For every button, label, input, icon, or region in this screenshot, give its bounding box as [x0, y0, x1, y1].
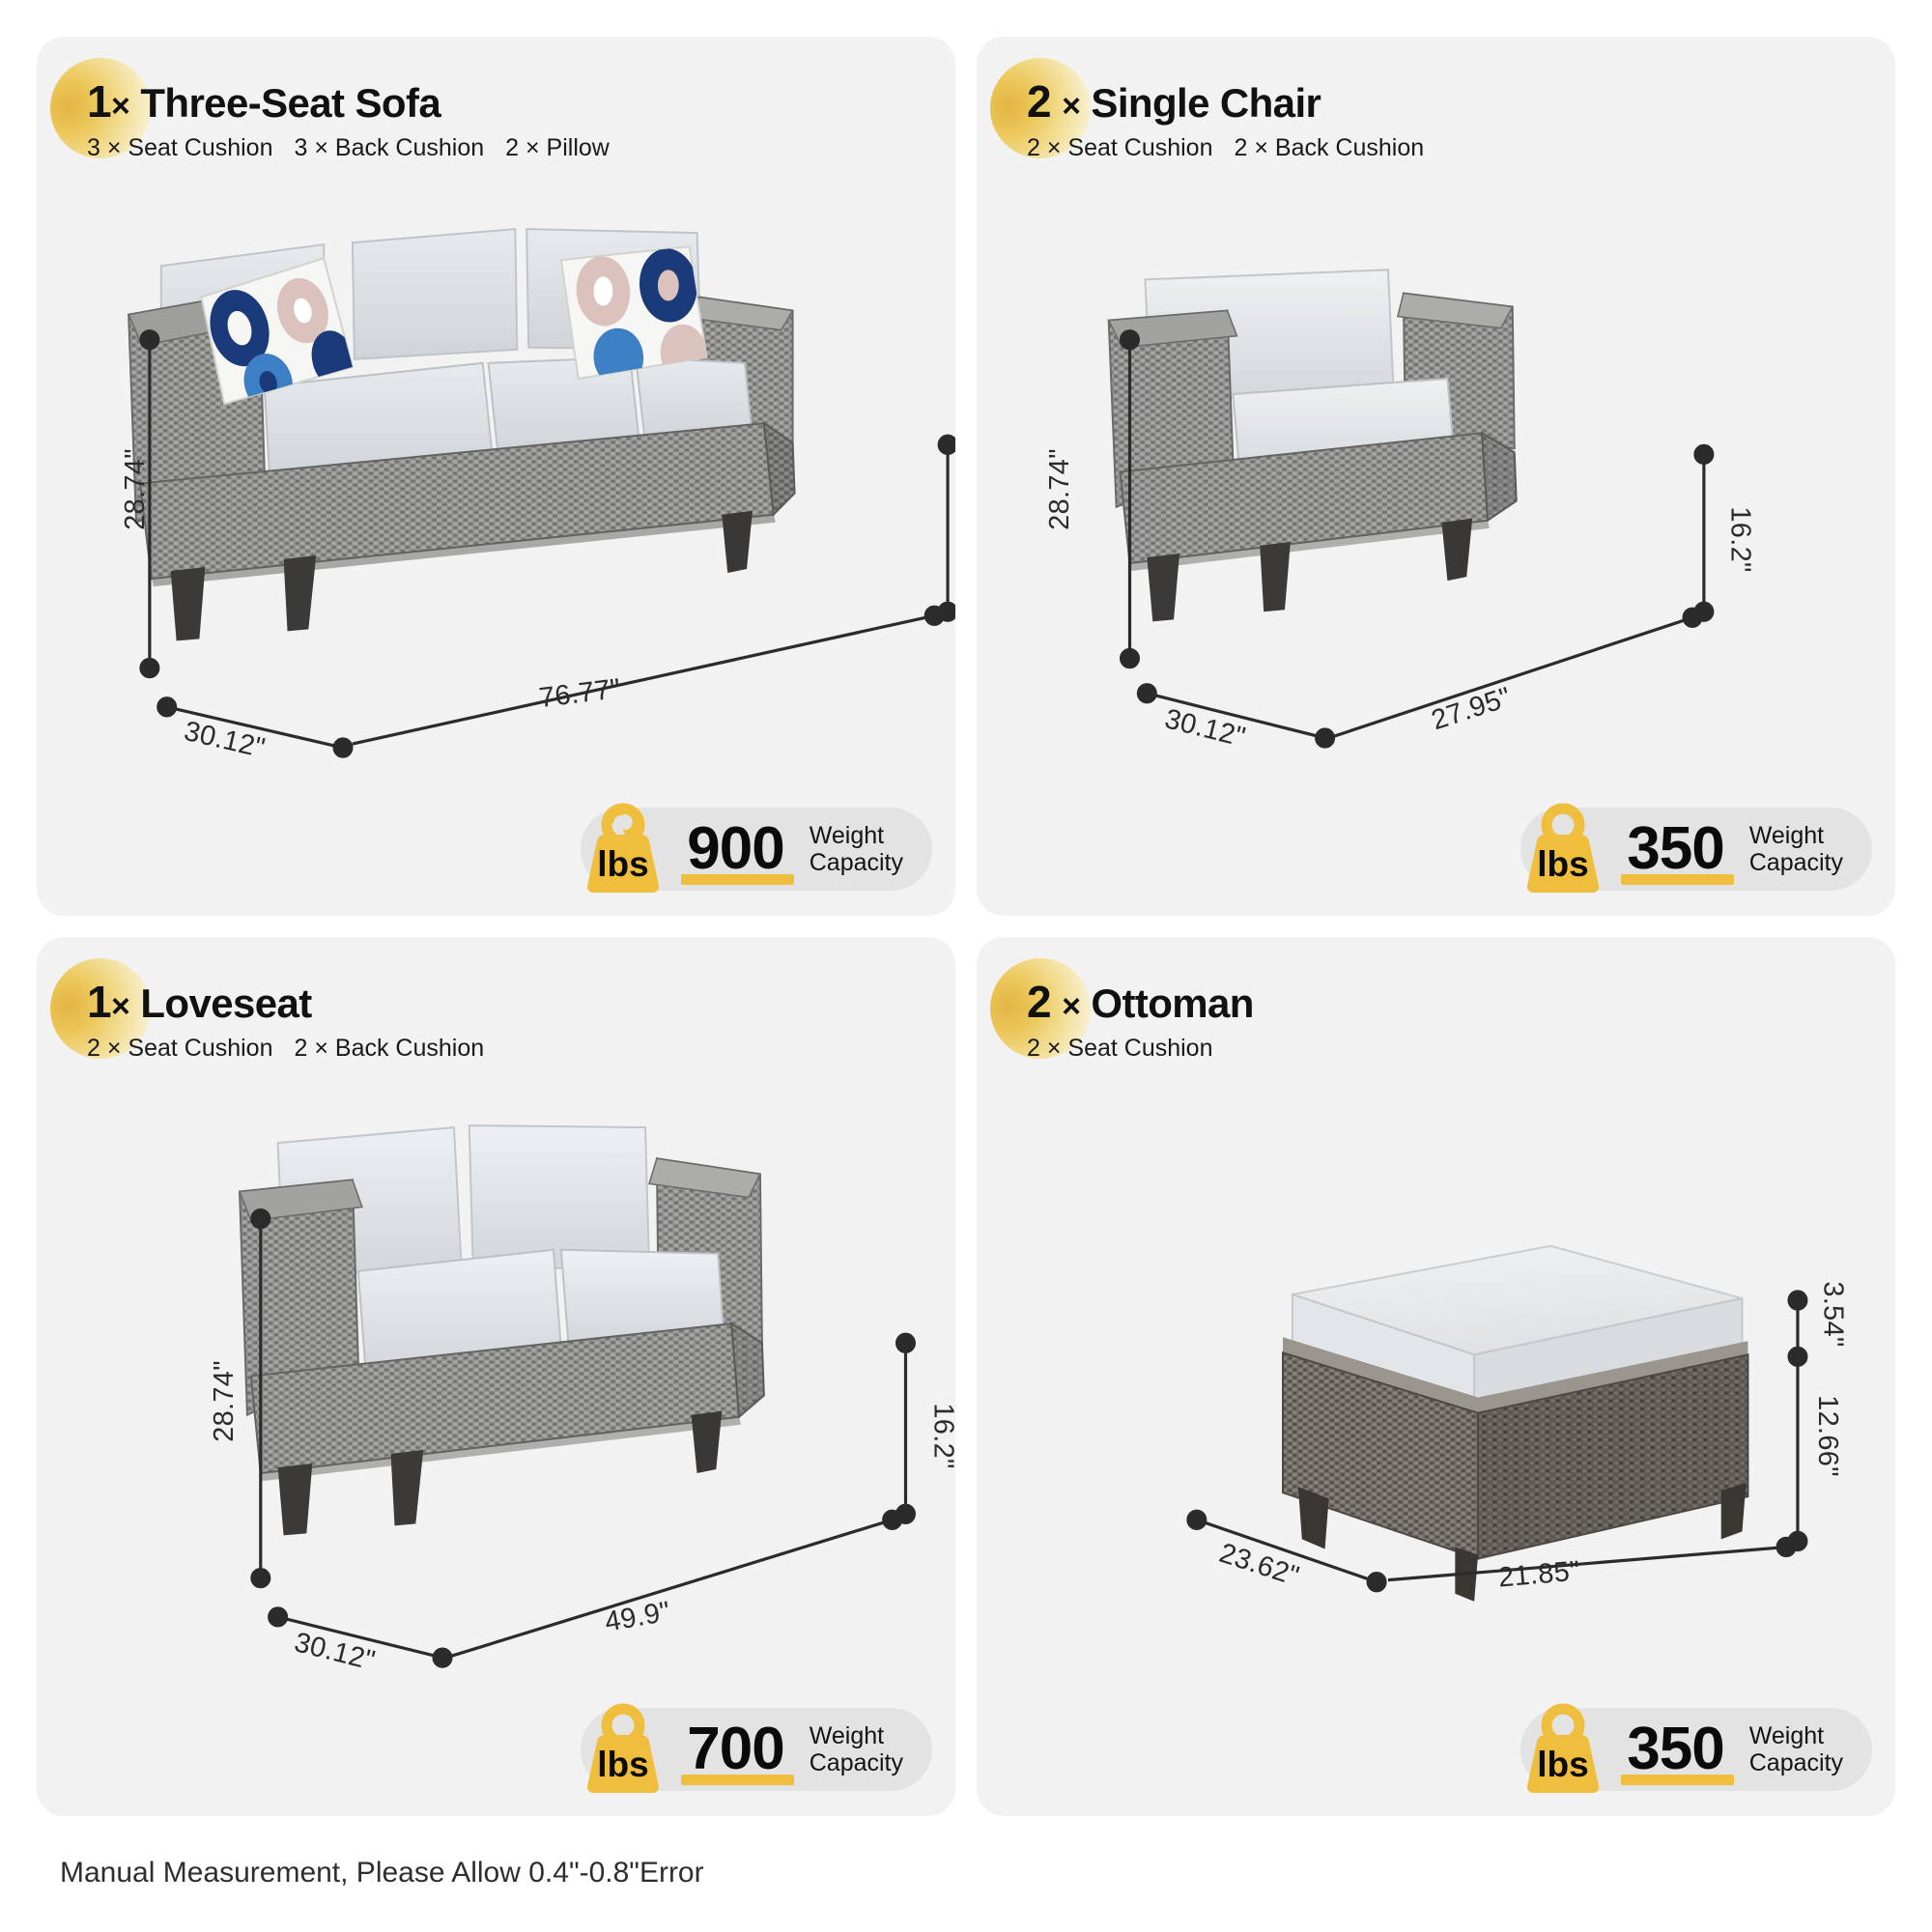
panel-name: Single Chair — [1091, 80, 1321, 126]
weight-capacity-badge-loveseat: lbs 700 Weight Capacity — [581, 1708, 932, 1791]
panel-ottoman: 2 × Ottoman 2 × Seat Cushion — [977, 937, 1895, 1816]
weight-capacity-label: Weight Capacity — [1749, 822, 1843, 877]
panel-header-three-seat-sofa: 1× Three-Seat Sofa 3 × Seat Cushion3 × B… — [87, 79, 610, 162]
panel-single-chair: 2 × Single Chair 2 × Seat Cushion2 × Bac… — [977, 37, 1895, 916]
panel-includes-three-seat-sofa: 3 × Seat Cushion3 × Back Cushion2 × Pill… — [87, 134, 610, 162]
include-item: 2 × Back Cushion — [1235, 134, 1425, 161]
svg-text:lbs: lbs — [1538, 844, 1589, 884]
panel-title-single-chair: 2 × Single Chair — [1027, 79, 1424, 126]
include-item: 2 × Pillow — [505, 134, 610, 161]
weight-icon: lbs — [1513, 1703, 1613, 1796]
panel-includes-ottoman: 2 × Seat Cushion — [1027, 1035, 1254, 1063]
measurement-disclaimer: Manual Measurement, Please Allow 0.4"-0.… — [60, 1857, 704, 1889]
svg-text:lbs: lbs — [598, 844, 649, 884]
weight-label-line1: Weight — [810, 822, 903, 850]
dimension-label-height: 28.74" — [1044, 448, 1076, 530]
multiply-symbol: × — [111, 988, 129, 1025]
panel-header-single-chair: 2 × Single Chair 2 × Seat Cushion2 × Bac… — [1027, 79, 1424, 162]
panel-three-seat-sofa: 1× Three-Seat Sofa 3 × Seat Cushion3 × B… — [37, 37, 955, 916]
weight-label-line2: Capacity — [810, 849, 903, 877]
weight-capacity-label: Weight Capacity — [810, 822, 903, 877]
panel-title-three-seat-sofa: 1× Three-Seat Sofa — [87, 79, 610, 126]
include-item: 2 × Back Cushion — [295, 1035, 485, 1062]
dimension-label-cushion-thickness: 3.54" — [1817, 1281, 1849, 1347]
weight-value: 900 — [679, 819, 795, 879]
weight-label-line1: Weight — [1749, 822, 1843, 850]
panel-grid: 1× Three-Seat Sofa 3 × Seat Cushion3 × B… — [0, 0, 1932, 1816]
weight-label-line2: Capacity — [1749, 849, 1843, 877]
panel-qty: 2 — [1027, 76, 1051, 127]
product-illustration-three-seat-sofa — [37, 37, 955, 916]
panel-qty: 2 — [1027, 977, 1051, 1027]
panel-includes-single-chair: 2 × Seat Cushion2 × Back Cushion — [1027, 134, 1424, 162]
weight-label-line1: Weight — [810, 1722, 903, 1750]
panel-title-loveseat: 1× Loveseat — [87, 980, 484, 1026]
multiply-symbol: × — [1062, 988, 1080, 1025]
dimension-label-height: 12.66" — [1811, 1395, 1843, 1477]
weight-capacity-badge-single-chair: lbs 350 Weight Capacity — [1520, 808, 1872, 891]
panel-qty: 1 — [87, 76, 111, 127]
weight-icon: lbs — [573, 803, 673, 895]
include-item: 3 × Back Cushion — [295, 134, 485, 161]
weight-capacity-label: Weight Capacity — [810, 1722, 903, 1777]
weight-value: 350 — [1619, 1719, 1735, 1779]
product-illustration-loveseat — [37, 937, 955, 1816]
dimension-label-seat-height: 16.2" — [927, 1403, 955, 1468]
weight-capacity-badge-ottoman: lbs 350 Weight Capacity — [1520, 1708, 1872, 1791]
panel-includes-loveseat: 2 × Seat Cushion2 × Back Cushion — [87, 1035, 484, 1063]
dimension-label-height: 28.74" — [120, 448, 152, 530]
weight-icon: lbs — [573, 1703, 673, 1796]
weight-capacity-badge-three-seat-sofa: lbs 900 Weight Capacity — [581, 808, 932, 891]
product-illustration-ottoman — [977, 937, 1895, 1816]
include-item: 2 × Seat Cushion — [1027, 134, 1213, 161]
panel-name: Loveseat — [140, 980, 311, 1026]
weight-label-line2: Capacity — [1749, 1749, 1843, 1777]
include-item: 3 × Seat Cushion — [87, 134, 273, 161]
dimension-label-height: 28.74" — [209, 1360, 241, 1442]
include-item: 2 × Seat Cushion — [1027, 1035, 1213, 1062]
panel-qty: 1 — [87, 977, 111, 1027]
panel-name: Three-Seat Sofa — [140, 80, 440, 126]
weight-icon: lbs — [1513, 803, 1613, 895]
weight-value: 700 — [679, 1719, 795, 1779]
weight-capacity-label: Weight Capacity — [1749, 1722, 1843, 1777]
svg-text:lbs: lbs — [598, 1745, 649, 1784]
multiply-symbol: × — [111, 88, 129, 125]
panel-header-ottoman: 2 × Ottoman 2 × Seat Cushion — [1027, 980, 1254, 1063]
svg-text:lbs: lbs — [1538, 1745, 1589, 1784]
product-dimensions-sheet: 1× Three-Seat Sofa 3 × Seat Cushion3 × B… — [0, 0, 1932, 1932]
panel-header-loveseat: 1× Loveseat 2 × Seat Cushion2 × Back Cus… — [87, 980, 484, 1063]
panel-loveseat: 1× Loveseat 2 × Seat Cushion2 × Back Cus… — [37, 937, 955, 1816]
weight-value: 350 — [1619, 819, 1735, 879]
panel-name: Ottoman — [1091, 980, 1253, 1026]
dimension-label-seat-height: 16.2" — [1724, 506, 1756, 572]
weight-label-line2: Capacity — [810, 1749, 903, 1777]
weight-label-line1: Weight — [1749, 1722, 1843, 1750]
panel-title-ottoman: 2 × Ottoman — [1027, 980, 1254, 1026]
multiply-symbol: × — [1062, 88, 1080, 125]
product-illustration-single-chair — [977, 37, 1895, 916]
include-item: 2 × Seat Cushion — [87, 1035, 273, 1062]
